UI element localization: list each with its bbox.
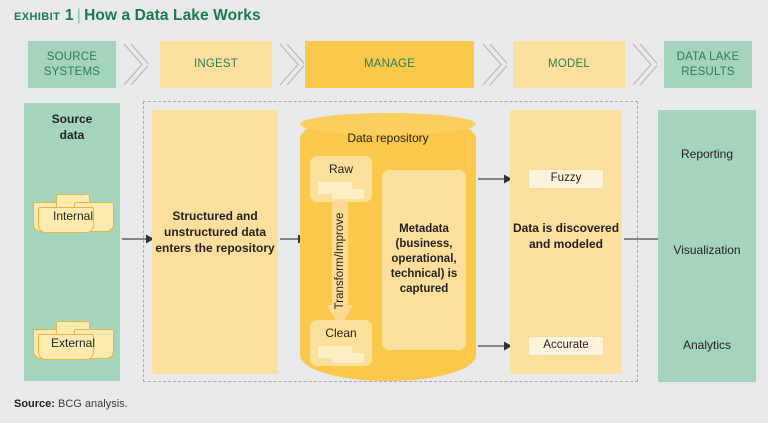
transform-improve-label: Transform/Improve [334,212,346,309]
arrow-source-to-ingest-icon [122,233,154,245]
chevron-separator-1-icon [120,41,148,88]
stage-header-model: MODEL [513,41,625,88]
title-separator: | [74,7,84,24]
internal-source-icon[interactable]: Internal [31,193,115,239]
accurate-pill[interactable]: Accurate [528,336,604,356]
stage-header-source-systems-line2: SYSTEMS [44,65,100,79]
chevron-separator-4-icon [629,41,657,88]
result-item-reporting[interactable]: Reporting [658,147,756,161]
external-source-icon[interactable]: External [31,320,115,366]
clean-stack-icon-front [332,353,364,363]
arrow-repository-to-fuzzy-icon [478,173,512,185]
stage-header-ingest: INGEST [160,41,272,88]
exhibit-number: Exhibit 1 [14,7,74,24]
stage-header-results-line1: DATA LAKE [677,50,740,64]
chevron-separator-2-icon [276,41,304,88]
metadata-text: Metadata (business, operational, technic… [382,222,466,297]
ingest-description: Structured and unstructured data enters … [152,209,278,257]
stage-header-source-systems: SOURCE SYSTEMS [28,41,116,88]
raw-label: Raw [310,162,372,176]
metadata-box: Metadata (business, operational, technic… [382,170,466,350]
internal-source-label: Internal [31,209,115,223]
raw-stack-icon-front [332,189,364,199]
stage-header-source-systems-line1: SOURCE [44,50,100,64]
source-note: Source: BCG analysis. [14,398,128,410]
source-data-title-line2: data [24,128,120,144]
fuzzy-pill[interactable]: Fuzzy [528,169,604,189]
diagram-canvas: Exhibit 1|How a Data Lake Works SOURCE S… [0,0,768,423]
stage-header-ingest-label: INGEST [194,57,238,71]
stage-header-model-label: MODEL [548,57,590,71]
result-item-analytics[interactable]: Analytics [658,338,756,352]
stage-header-manage-label: MANAGE [364,57,415,71]
model-description: Data is discovered and modeled [510,221,622,253]
source-data-title: Source data [24,112,120,143]
clean-data-box[interactable]: Clean [310,320,372,366]
stage-header-manage: MANAGE [305,41,474,88]
raw-data-box[interactable]: Raw [310,156,372,202]
chevron-separator-3-icon [479,41,507,88]
page-title: Exhibit 1|How a Data Lake Works [14,7,261,25]
clean-label: Clean [310,326,372,340]
source-note-value: BCG analysis. [58,398,128,410]
result-item-visualization[interactable]: Visualization [658,243,756,257]
source-data-title-line1: Source [24,112,120,128]
transform-improve-arrow-icon: Transform/Improve [327,193,353,328]
stage-header-results-line2: RESULTS [677,65,740,79]
data-repository-label: Data repository [300,131,476,145]
external-source-label: External [31,336,115,350]
title-heading: How a Data Lake Works [84,7,261,24]
stage-header-data-lake-results: DATA LAKE RESULTS [664,41,752,88]
source-note-label: Source: [14,398,55,410]
arrow-repository-to-accurate-icon [478,340,512,352]
